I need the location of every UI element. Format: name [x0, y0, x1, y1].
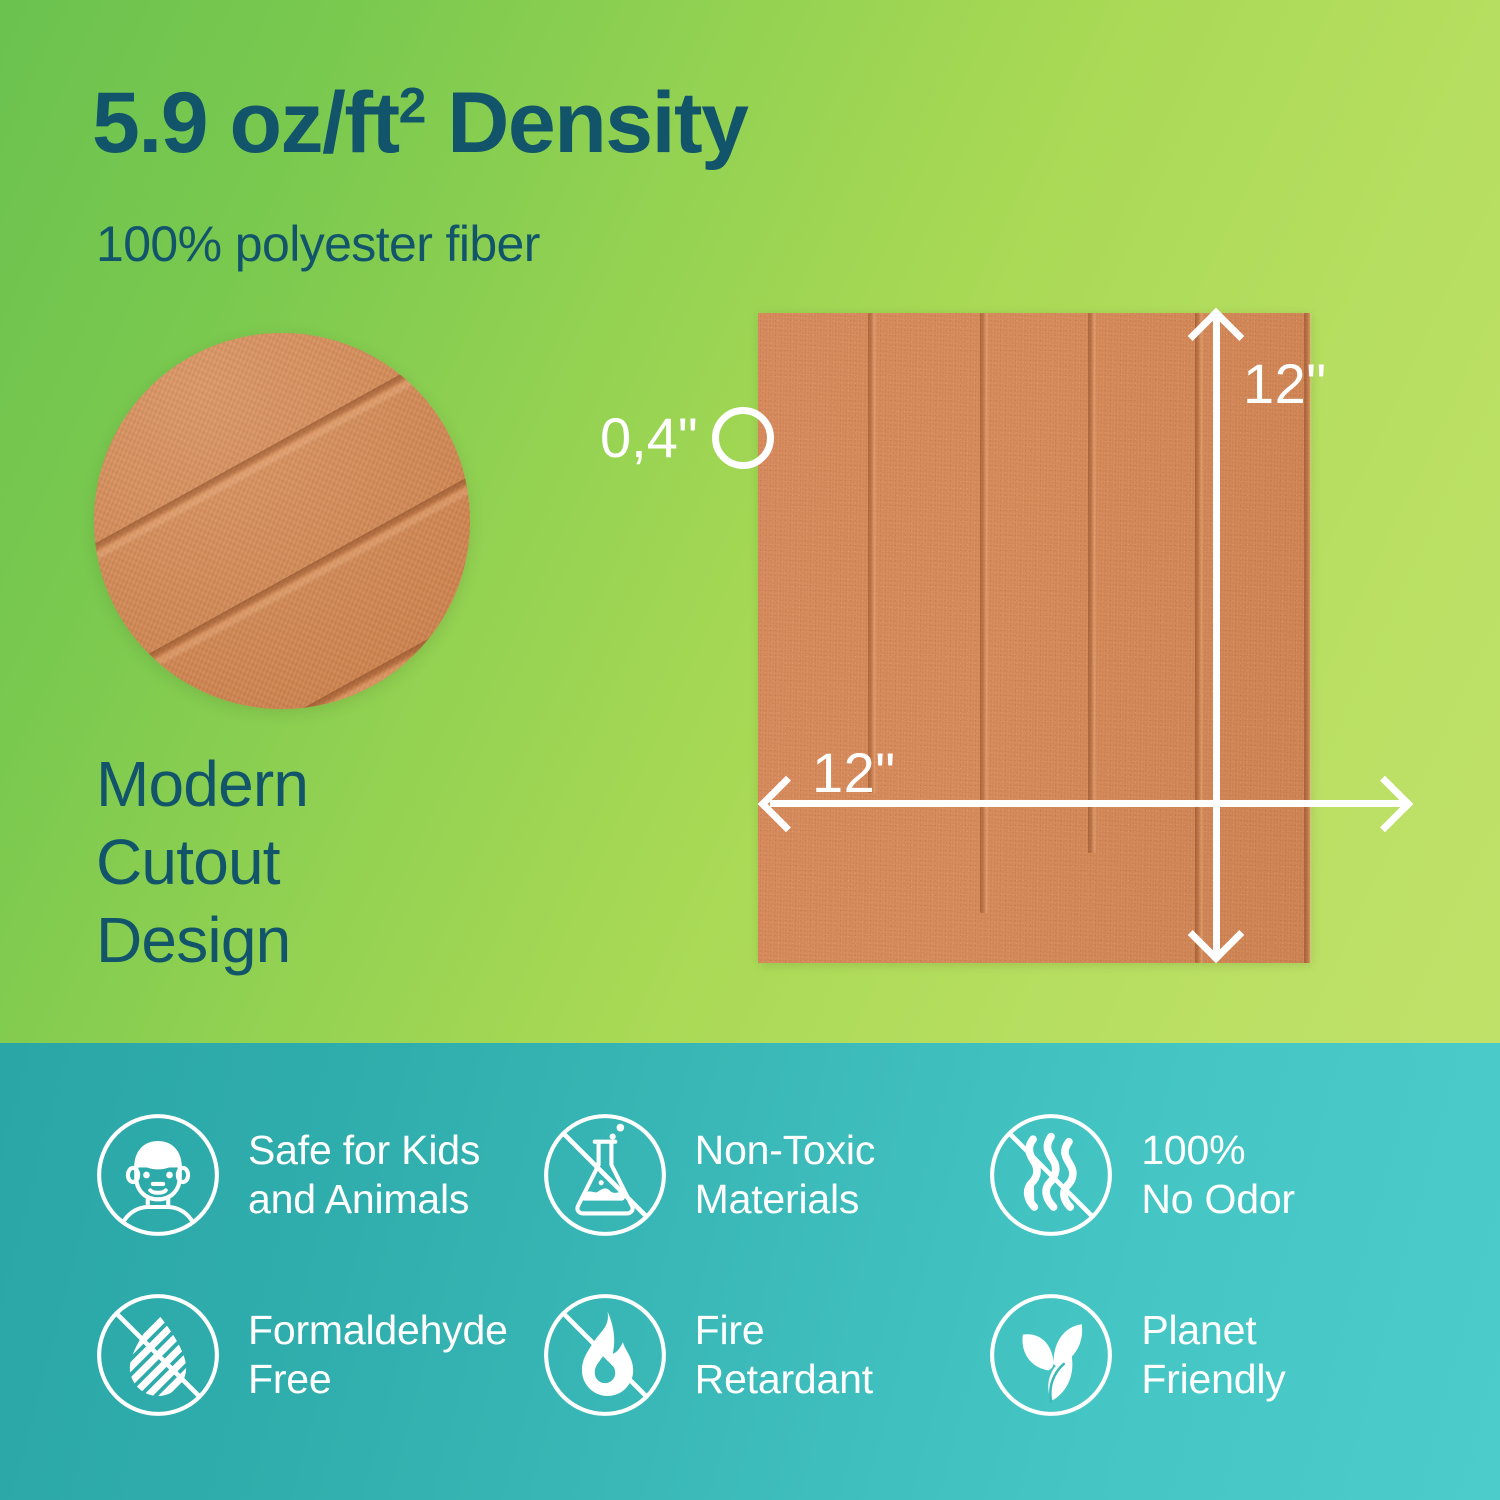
product-infographic: 5.9 oz/ft2 Density 100% polyester fiber …: [0, 0, 1500, 1500]
feature-item: FireRetardant: [541, 1265, 978, 1445]
title-superscript: 2: [399, 77, 425, 133]
cutout-heading-line-2: Cutout: [96, 823, 308, 901]
feature-item: FormaldehydeFree: [94, 1265, 531, 1445]
feature-label: PlanetFriendly: [1141, 1306, 1285, 1404]
arrow-right-icon: [1357, 776, 1414, 833]
height-dimension-line: [1213, 318, 1220, 954]
title-rest: Density: [425, 75, 748, 171]
feature-label-line-1: Safe for Kids: [248, 1126, 480, 1175]
feature-label-line-1: Planet: [1141, 1306, 1285, 1355]
thickness-callout: 0,4": [600, 405, 774, 470]
feature-item: PlanetFriendly: [987, 1265, 1424, 1445]
cutout-heading-line-3: Design: [96, 901, 308, 979]
feature-label-line-2: Free: [248, 1355, 508, 1404]
acoustic-panel-diagram: [758, 313, 1310, 963]
no-flame-icon: [541, 1291, 669, 1419]
feature-label: FormaldehydeFree: [248, 1306, 508, 1404]
width-dimension-label: 12": [812, 740, 896, 805]
height-dimension-label: 12": [1243, 351, 1327, 416]
no-flask-icon: [541, 1111, 669, 1239]
cutout-design-heading: Modern Cutout Design: [96, 745, 308, 979]
feature-label-line-2: and Animals: [248, 1175, 480, 1224]
panel-groove: [1195, 313, 1203, 963]
feature-label-line-1: Non-Toxic: [695, 1126, 875, 1175]
feature-item: Safe for Kidsand Animals: [94, 1085, 531, 1265]
texture-closeup-circle: [94, 333, 470, 709]
panel-fiber-noise: [758, 313, 1310, 963]
bottom-teal-section: Safe for Kidsand Animals Non-ToxicMateri…: [0, 1043, 1500, 1500]
no-droplet-icon: [94, 1291, 222, 1419]
thickness-ring-icon: [712, 407, 774, 469]
feature-label: 100%No Odor: [1141, 1126, 1295, 1224]
feature-label-line-2: Materials: [695, 1175, 875, 1224]
top-green-section: 5.9 oz/ft2 Density 100% polyester fiber …: [0, 0, 1500, 1043]
page-title: 5.9 oz/ft2 Density: [92, 78, 747, 168]
cutout-heading-line-1: Modern: [96, 745, 308, 823]
panel-tile: [758, 313, 1310, 963]
no-odor-icon: [987, 1111, 1115, 1239]
thickness-label: 0,4": [600, 405, 698, 470]
feature-label-line-1: Formaldehyde: [248, 1306, 508, 1355]
feature-label-line-2: No Odor: [1141, 1175, 1295, 1224]
feature-label-line-2: Retardant: [695, 1355, 873, 1404]
page-subtitle: 100% polyester fiber: [96, 215, 540, 273]
panel-groove: [868, 313, 876, 793]
feature-label: FireRetardant: [695, 1306, 873, 1404]
child-face-icon: [94, 1111, 222, 1239]
title-main: 5.9 oz/ft: [92, 75, 399, 171]
feature-label: Non-ToxicMaterials: [695, 1126, 875, 1224]
feature-label-line-1: 100%: [1141, 1126, 1295, 1175]
features-grid: Safe for Kidsand Animals Non-ToxicMateri…: [94, 1085, 1424, 1445]
feature-label: Safe for Kidsand Animals: [248, 1126, 480, 1224]
feature-label-line-1: Fire: [695, 1306, 873, 1355]
leaves-icon: [987, 1291, 1115, 1419]
feature-item: 100%No Odor: [987, 1085, 1424, 1265]
panel-groove: [1088, 313, 1096, 853]
feature-item: Non-ToxicMaterials: [541, 1085, 978, 1265]
panel-groove: [980, 313, 988, 913]
feature-label-line-2: Friendly: [1141, 1355, 1285, 1404]
